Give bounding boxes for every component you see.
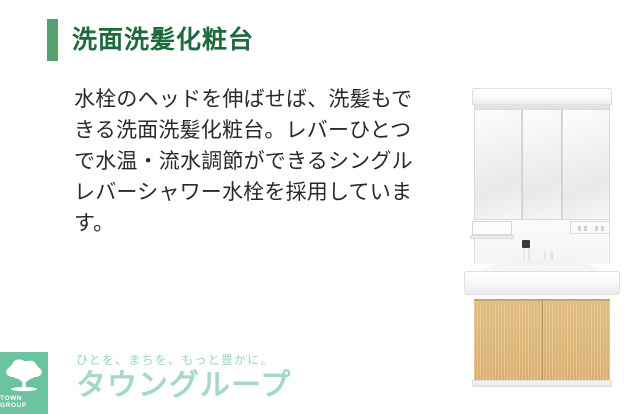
page-title: 洗面洗髪化粧台 bbox=[72, 28, 254, 53]
outlet-slot-1 bbox=[578, 226, 581, 231]
footer: TOWN GROUP ひとを、まちを、もっと豊かに。 タウングループ bbox=[0, 352, 640, 414]
footer-brand-name: タウングループ bbox=[76, 370, 291, 402]
mirror-panel-right bbox=[562, 109, 610, 220]
description-text: 水栓のヘッドを伸ばせば、洗髪もできる洗面洗髪化粧台。レバーひとつで水温・流水調節… bbox=[74, 84, 419, 239]
mirror-panel-center bbox=[522, 109, 563, 220]
vanity-counter bbox=[464, 271, 620, 295]
mirror-cabinet bbox=[474, 109, 610, 220]
mirror-panel-left bbox=[474, 109, 522, 220]
title-accent-bar bbox=[47, 19, 58, 61]
vanity-illustration bbox=[458, 88, 628, 388]
outlet-slot-3 bbox=[595, 226, 598, 231]
vanity-shelf bbox=[472, 221, 512, 235]
mirror-cabinet-hood bbox=[472, 88, 612, 105]
outlet-slot-2 bbox=[584, 226, 587, 231]
footer-tagline: ひとを、まちを、もっと豊かに。 bbox=[76, 354, 291, 366]
vanity-outlet bbox=[570, 221, 610, 234]
page-title-row: 洗面洗髪化粧台 bbox=[47, 19, 254, 61]
tree-icon bbox=[5, 356, 43, 396]
town-group-logo: TOWN GROUP bbox=[0, 352, 48, 414]
logo-mark-label: TOWN GROUP bbox=[0, 396, 48, 411]
page-root: 洗面洗髪化粧台 水栓のヘッドを伸ばせば、洗髪もできる洗面洗髪化粧台。レバーひとつ… bbox=[0, 0, 640, 414]
outlet-slot-4 bbox=[601, 226, 604, 231]
vanity-shelf-rail bbox=[470, 235, 514, 239]
footer-text-block: ひとを、まちを、もっと豊かに。 タウングループ bbox=[76, 354, 291, 402]
